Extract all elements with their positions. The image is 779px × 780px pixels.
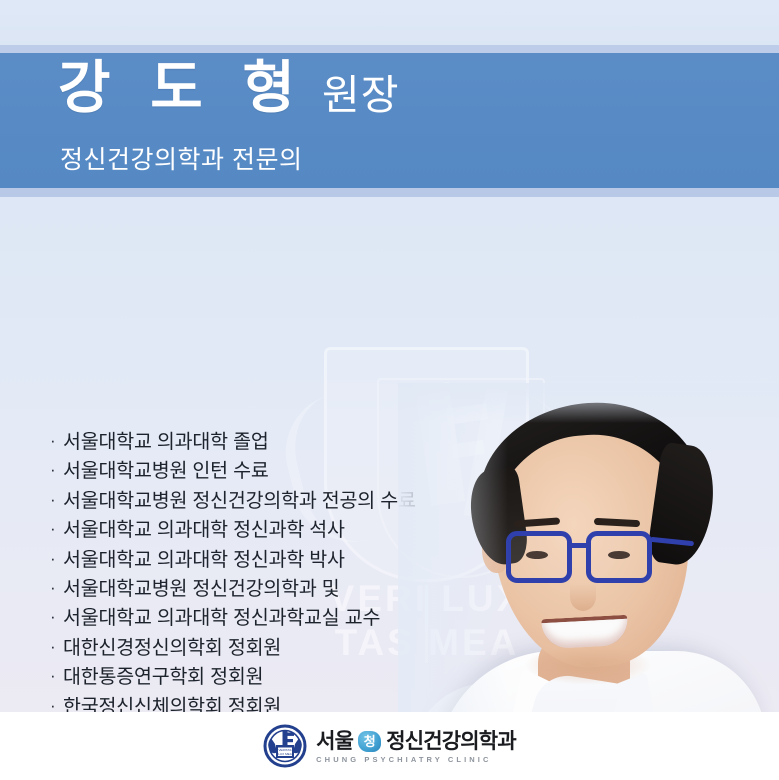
credential-text: 서울대학교 의과대학 졸업 (63, 429, 269, 456)
credential-item: · 서울대학교 의과대학 정신과학 박사 (50, 547, 480, 576)
svg-text:LUX MEA: LUX MEA (278, 752, 293, 756)
portrait-glasses-left-lens (506, 531, 572, 583)
portrait-eyebrow-right (594, 518, 640, 527)
portrait-hair (473, 395, 709, 562)
bullet-icon: · (50, 458, 63, 483)
credential-item: · 서울대학교병원 정신건강의학과 및 (50, 576, 480, 605)
portrait-collar-right (588, 672, 663, 712)
clinic-logo-prefix: 서울 (316, 731, 353, 752)
credential-text: 서울대학교 의과대학 정신과학 박사 (63, 547, 345, 574)
credential-item: · 서울대학교 의과대학 정신과학교실 교수 (50, 605, 480, 634)
portrait-necktie-knot (562, 699, 606, 712)
bullet-icon: · (50, 517, 63, 542)
credential-text: 서울대학교 의과대학 정신과학 석사 (63, 517, 345, 544)
credential-text: 한국정신신체의학회 정회원 (63, 694, 281, 712)
credential-item: · 대한통증연구학회 정회원 (50, 664, 480, 693)
portrait-nose (570, 583, 596, 611)
clinic-logo-english: CHUNG PSYCHIATRY CLINIC (316, 756, 516, 764)
credential-text: 서울대학교병원 인턴 수료 (63, 458, 269, 485)
clinic-logo-text: 서울 청 정신건강의학과 CHUNG PSYCHIATRY CLINIC (316, 729, 516, 764)
portrait-glasses-bridge (572, 543, 586, 548)
portrait-hair-right (646, 442, 720, 569)
bullet-icon: · (50, 694, 63, 712)
clinic-logo-mark-icon: 청 (358, 731, 381, 752)
credential-item: · 서울대학교 의과대학 정신과학 석사 (50, 517, 480, 546)
credential-item: · 서울대학교병원 인턴 수료 (50, 458, 480, 487)
portrait-head (484, 427, 699, 675)
doctor-profile-poster: 강 도 형 원장 정신건강의학과 전문의 VERI LUX TAS MEA · … (0, 0, 779, 780)
credential-item: · 한국정신신체의학회 정회원 (50, 694, 480, 712)
clinic-logo-korean: 서울 청 정신건강의학과 (316, 731, 516, 752)
bullet-icon: · (50, 576, 63, 601)
top-light-strip (0, 0, 779, 45)
portrait-glasses-temple (650, 537, 694, 547)
bullet-icon: · (50, 605, 63, 630)
clinic-logo: VERITAS LUX MEA 서울 청 정신건강의학과 CHUNG PSYCH… (263, 724, 516, 768)
clinic-emblem-icon: VERITAS LUX MEA (263, 724, 307, 768)
bullet-icon: · (50, 635, 63, 660)
portrait-eye-right (608, 551, 630, 559)
header-accent-strip (0, 188, 779, 197)
credential-text: 대한신경정신의학회 정회원 (63, 635, 281, 662)
footer-bar: VERITAS LUX MEA 서울 청 정신건강의학과 CHUNG PSYCH… (0, 712, 779, 780)
credential-item: · 서울대학교 의과대학 졸업 (50, 429, 480, 458)
credential-item: · 대한신경정신의학회 정회원 (50, 635, 480, 664)
portrait-neck (538, 633, 630, 712)
doctor-name: 강 도 형 (58, 57, 307, 121)
credential-text: 서울대학교 의과대학 정신과학교실 교수 (63, 605, 380, 632)
clinic-logo-suffix: 정신건강의학과 (386, 731, 516, 752)
profile-body: VERI LUX TAS MEA · 서울대학교 의과대학 졸업 · 서울대학교… (0, 197, 779, 712)
credential-text: 대한통증연구학회 정회원 (63, 664, 263, 691)
portrait-blend-top (398, 383, 779, 423)
top-accent-strip (0, 45, 779, 53)
bullet-icon: · (50, 547, 63, 572)
portrait-eyebrow-left (514, 517, 560, 527)
bullet-icon: · (50, 429, 63, 454)
doctor-specialty: 정신건강의학과 전문의 (60, 140, 302, 176)
portrait-ear (482, 531, 508, 573)
portrait-coat-lapel (490, 672, 621, 712)
portrait-coat (436, 651, 766, 712)
portrait-glasses-right-lens (586, 531, 652, 583)
watermark-leaf-right (469, 390, 583, 555)
portrait-eye-left (526, 551, 548, 559)
credential-text: 서울대학교병원 정신건강의학과 전공의 수료 (63, 488, 416, 515)
credential-item: · 서울대학교병원 정신건강의학과 전공의 수료 (50, 488, 480, 517)
portrait-collar-left (503, 668, 588, 712)
portrait-smile (541, 615, 628, 649)
bullet-icon: · (50, 664, 63, 689)
credentials-list: · 서울대학교 의과대학 졸업 · 서울대학교병원 인턴 수료 · 서울대학교병… (50, 429, 480, 712)
doctor-title-suffix: 원장 (322, 73, 399, 118)
bullet-icon: · (50, 488, 63, 513)
portrait-chin-shade (524, 645, 652, 685)
credential-text: 서울대학교병원 정신건강의학과 및 (63, 576, 340, 603)
